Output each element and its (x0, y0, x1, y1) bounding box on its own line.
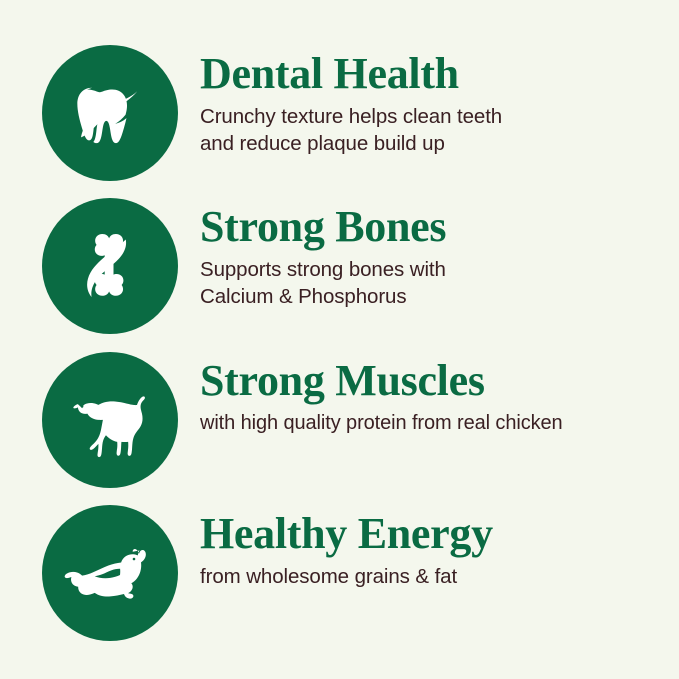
bone-with-swoosh-icon (65, 221, 155, 311)
tooth-with-swoosh-icon (64, 67, 156, 159)
benefit-description-line: with high quality protein from real chic… (200, 410, 679, 437)
benefit-row-strong-muscles: Strong Muscles with high quality protein… (0, 352, 679, 488)
benefit-icon-badge-dental-health (42, 45, 178, 181)
benefit-description: with high quality protein from real chic… (200, 410, 679, 437)
benefit-title: Strong Muscles (200, 358, 679, 404)
benefit-text-strong-bones: Strong Bones Supports strong bones with … (200, 198, 679, 310)
benefit-description-line: from wholesome grains & fat (200, 563, 679, 590)
benefit-row-dental-health: Dental Health Crunchy texture helps clea… (0, 45, 679, 181)
benefit-row-strong-bones: Strong Bones Supports strong bones with … (0, 198, 679, 334)
benefit-row-healthy-energy: Healthy Energy from wholesome grains & f… (0, 505, 679, 641)
benefit-icon-badge-strong-bones (42, 198, 178, 334)
benefit-text-dental-health: Dental Health Crunchy texture helps clea… (200, 45, 679, 157)
benefits-panel: Dental Health Crunchy texture helps clea… (0, 0, 679, 679)
benefit-description: Crunchy texture helps clean teeth and re… (200, 103, 679, 158)
benefit-description: from wholesome grains & fat (200, 563, 679, 590)
benefit-title: Dental Health (200, 51, 679, 97)
benefit-description-line: and reduce plaque build up (200, 130, 679, 157)
benefit-text-healthy-energy: Healthy Energy from wholesome grains & f… (200, 505, 679, 590)
benefit-description-line: Crunchy texture helps clean teeth (200, 103, 679, 130)
benefit-description-line: Calcium & Phosphorus (200, 283, 679, 310)
benefit-title: Healthy Energy (200, 511, 679, 557)
benefit-title: Strong Bones (200, 204, 679, 250)
benefit-text-strong-muscles: Strong Muscles with high quality protein… (200, 352, 679, 436)
benefit-icon-badge-strong-muscles (42, 352, 178, 488)
leaping-dog-icon (60, 523, 160, 623)
benefit-description-line: Supports strong bones with (200, 256, 679, 283)
benefit-description: Supports strong bones with Calcium & Pho… (200, 256, 679, 311)
benefit-icon-badge-healthy-energy (42, 505, 178, 641)
standing-dog-icon (62, 372, 158, 468)
